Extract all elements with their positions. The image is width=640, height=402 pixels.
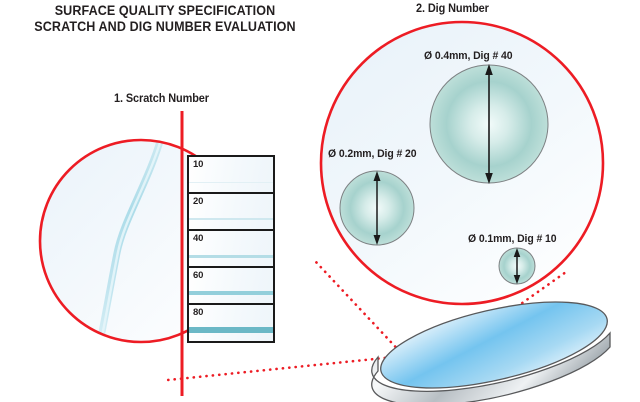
- optic-disc: [372, 285, 615, 402]
- dig-pit-10: [499, 248, 535, 284]
- dig-panel-label: 2. Dig Number: [416, 3, 489, 15]
- dig-magnifier: [321, 22, 603, 304]
- scratch-bar-40: [189, 255, 273, 258]
- diagram-artwork: [0, 0, 640, 402]
- scratch-bar-10: [189, 182, 273, 183]
- scratch-bar-20: [189, 218, 273, 220]
- dig-label-40: Ø 0.4mm, Dig # 40: [424, 50, 512, 62]
- scratch-scale-row: 40: [187, 229, 275, 269]
- scratch-scale-value: 10: [193, 159, 203, 170]
- scratch-scale-row: 20: [187, 192, 275, 232]
- scratch-scale-row: 60: [187, 266, 275, 306]
- diagram-canvas: SURFACE QUALITY SPECIFICATION SCRATCH AN…: [0, 0, 640, 402]
- scratch-scale-value: 40: [193, 233, 203, 244]
- scratch-scale-value: 80: [193, 307, 203, 318]
- scratch-bar-80: [189, 327, 273, 333]
- scratch-scale-value: 60: [193, 270, 203, 281]
- scratch-scale-table: 10 20 40 60 80: [187, 155, 275, 341]
- dig-label-10: Ø 0.1mm, Dig # 10: [468, 233, 556, 245]
- scratch-scale-row: 80: [187, 303, 275, 343]
- scratch-bar-60: [189, 291, 273, 295]
- scratch-panel-label: 1. Scratch Number: [114, 93, 209, 105]
- scratch-scale-value: 20: [193, 196, 203, 207]
- dig-pit-40: [430, 64, 548, 184]
- dig-pit-20: [340, 171, 414, 245]
- callout-line-to-scratch: [168, 356, 404, 380]
- dig-label-20: Ø 0.2mm, Dig # 20: [328, 148, 416, 160]
- scratch-scale-row: 10: [187, 155, 275, 195]
